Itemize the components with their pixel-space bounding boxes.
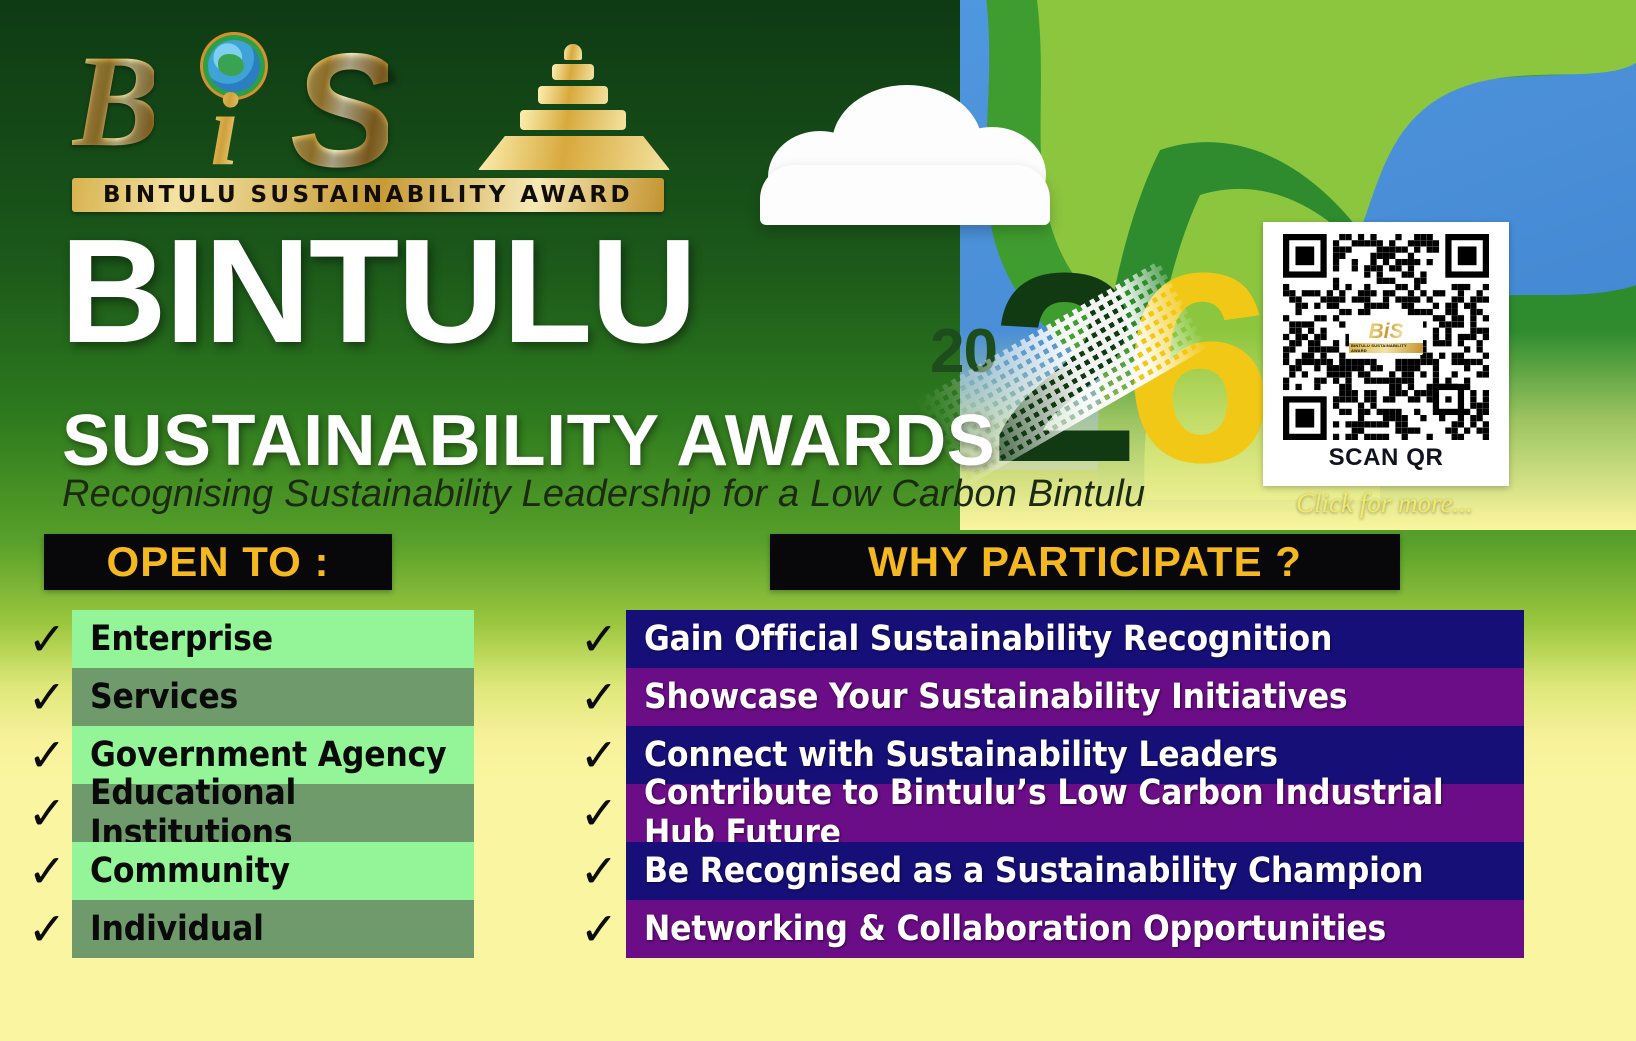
- open-to-item-label: Services: [90, 677, 238, 717]
- list-item: ✓Community: [22, 842, 474, 900]
- why-item-label: Be Recognised as a Sustainability Champi…: [644, 851, 1423, 891]
- open-to-item-label: Government Agency: [90, 735, 446, 775]
- check-icon: ✓: [22, 610, 72, 668]
- page-title: BINTULU: [60, 222, 695, 361]
- open-to-header-label: OPEN TO :: [107, 538, 330, 586]
- year-graphic: 6 2 20: [912, 232, 1212, 492]
- why-item-label: Contribute to Bintulu’s Low Carbon Indus…: [644, 773, 1524, 853]
- check-icon: ✓: [572, 726, 626, 784]
- qr-code-panel[interactable]: BiS BINTULU SUSTAINABILITY AWARD SCAN QR: [1263, 222, 1509, 486]
- check-icon: ✓: [22, 726, 72, 784]
- check-icon: ✓: [572, 610, 626, 668]
- why-item-label: Gain Official Sustainability Recognition: [644, 619, 1332, 659]
- why-item-label: Showcase Your Sustainability Initiatives: [644, 677, 1347, 717]
- why-item-bar: Contribute to Bintulu’s Low Carbon Indus…: [626, 784, 1524, 842]
- list-item: ✓Gain Official Sustainability Recognitio…: [572, 610, 1524, 668]
- list-item: ✓Be Recognised as a Sustainability Champ…: [572, 842, 1524, 900]
- logo-letter-s: S: [290, 18, 388, 204]
- why-item-bar: Networking & Collaboration Opportunities: [626, 900, 1524, 958]
- open-to-item-bar: Individual: [72, 900, 474, 958]
- logo-band-text: BINTULU SUSTAINABILITY AWARD: [103, 182, 633, 208]
- pyramid-icon: [472, 44, 702, 174]
- qr-center-mark: BiS: [1368, 321, 1403, 342]
- why-participate-list: ✓Gain Official Sustainability Recognitio…: [572, 610, 1524, 958]
- why-participate-header: WHY PARTICIPATE ?: [770, 534, 1400, 590]
- check-icon: ✓: [22, 784, 72, 842]
- open-to-item-bar: Enterprise: [72, 610, 474, 668]
- open-to-item-label: Community: [90, 851, 290, 891]
- check-icon: ✓: [22, 842, 72, 900]
- bisa-logo[interactable]: B i S BINTULU SUSTAINABILITY AWARD: [72, 18, 672, 218]
- why-item-bar: Showcase Your Sustainability Initiatives: [626, 668, 1524, 726]
- open-to-item-bar: Community: [72, 842, 474, 900]
- why-item-bar: Gain Official Sustainability Recognition: [626, 610, 1524, 668]
- bisa-logo-mark: B i S: [72, 18, 672, 168]
- page-subtitle: SUSTAINABILITY AWARDS: [62, 400, 995, 482]
- logo-band: BINTULU SUSTAINABILITY AWARD: [72, 178, 664, 212]
- check-icon: ✓: [22, 668, 72, 726]
- check-icon: ✓: [572, 842, 626, 900]
- open-to-list: ✓Enterprise✓Services✓Government Agency✓E…: [22, 610, 474, 958]
- list-item: ✓Educational Institutions: [22, 784, 474, 842]
- list-item: ✓Enterprise: [22, 610, 474, 668]
- check-icon: ✓: [572, 784, 626, 842]
- open-to-item-bar: Educational Institutions: [72, 784, 474, 842]
- cloud-icon: [760, 85, 1050, 225]
- open-to-item-label: Educational Institutions: [90, 773, 474, 853]
- qr-click-for-more-link[interactable]: Click for more...: [1296, 488, 1473, 519]
- logo-letter-i: i: [210, 70, 239, 189]
- why-item-bar: Be Recognised as a Sustainability Champi…: [626, 842, 1524, 900]
- check-icon: ✓: [572, 668, 626, 726]
- check-icon: ✓: [22, 900, 72, 958]
- list-item: ✓Showcase Your Sustainability Initiative…: [572, 668, 1524, 726]
- qr-center-logo: BiS BINTULU SUSTAINABILITY AWARD: [1349, 319, 1423, 355]
- list-item: ✓Networking & Collaboration Opportunitie…: [572, 900, 1524, 958]
- open-to-item-label: Individual: [90, 909, 264, 949]
- why-item-label: Networking & Collaboration Opportunities: [644, 909, 1386, 949]
- qr-code-image[interactable]: BiS BINTULU SUSTAINABILITY AWARD: [1283, 234, 1489, 440]
- why-participate-header-label: WHY PARTICIPATE ?: [868, 538, 1302, 586]
- list-item: ✓Contribute to Bintulu’s Low Carbon Indu…: [572, 784, 1524, 842]
- check-icon: ✓: [572, 900, 626, 958]
- open-to-item-bar: Services: [72, 668, 474, 726]
- open-to-item-label: Enterprise: [90, 619, 273, 659]
- open-to-header: OPEN TO :: [44, 534, 392, 590]
- list-item: ✓Services: [22, 668, 474, 726]
- list-item: ✓Individual: [22, 900, 474, 958]
- poster-canvas: B i S BINTULU SUSTAINABILITY AWARD BINTU…: [0, 0, 1636, 1041]
- qr-caption: SCAN QR: [1329, 444, 1444, 472]
- logo-letter-b: B: [72, 24, 154, 177]
- qr-center-band: BINTULU SUSTAINABILITY AWARD: [1349, 343, 1423, 353]
- why-item-label: Connect with Sustainability Leaders: [644, 735, 1278, 775]
